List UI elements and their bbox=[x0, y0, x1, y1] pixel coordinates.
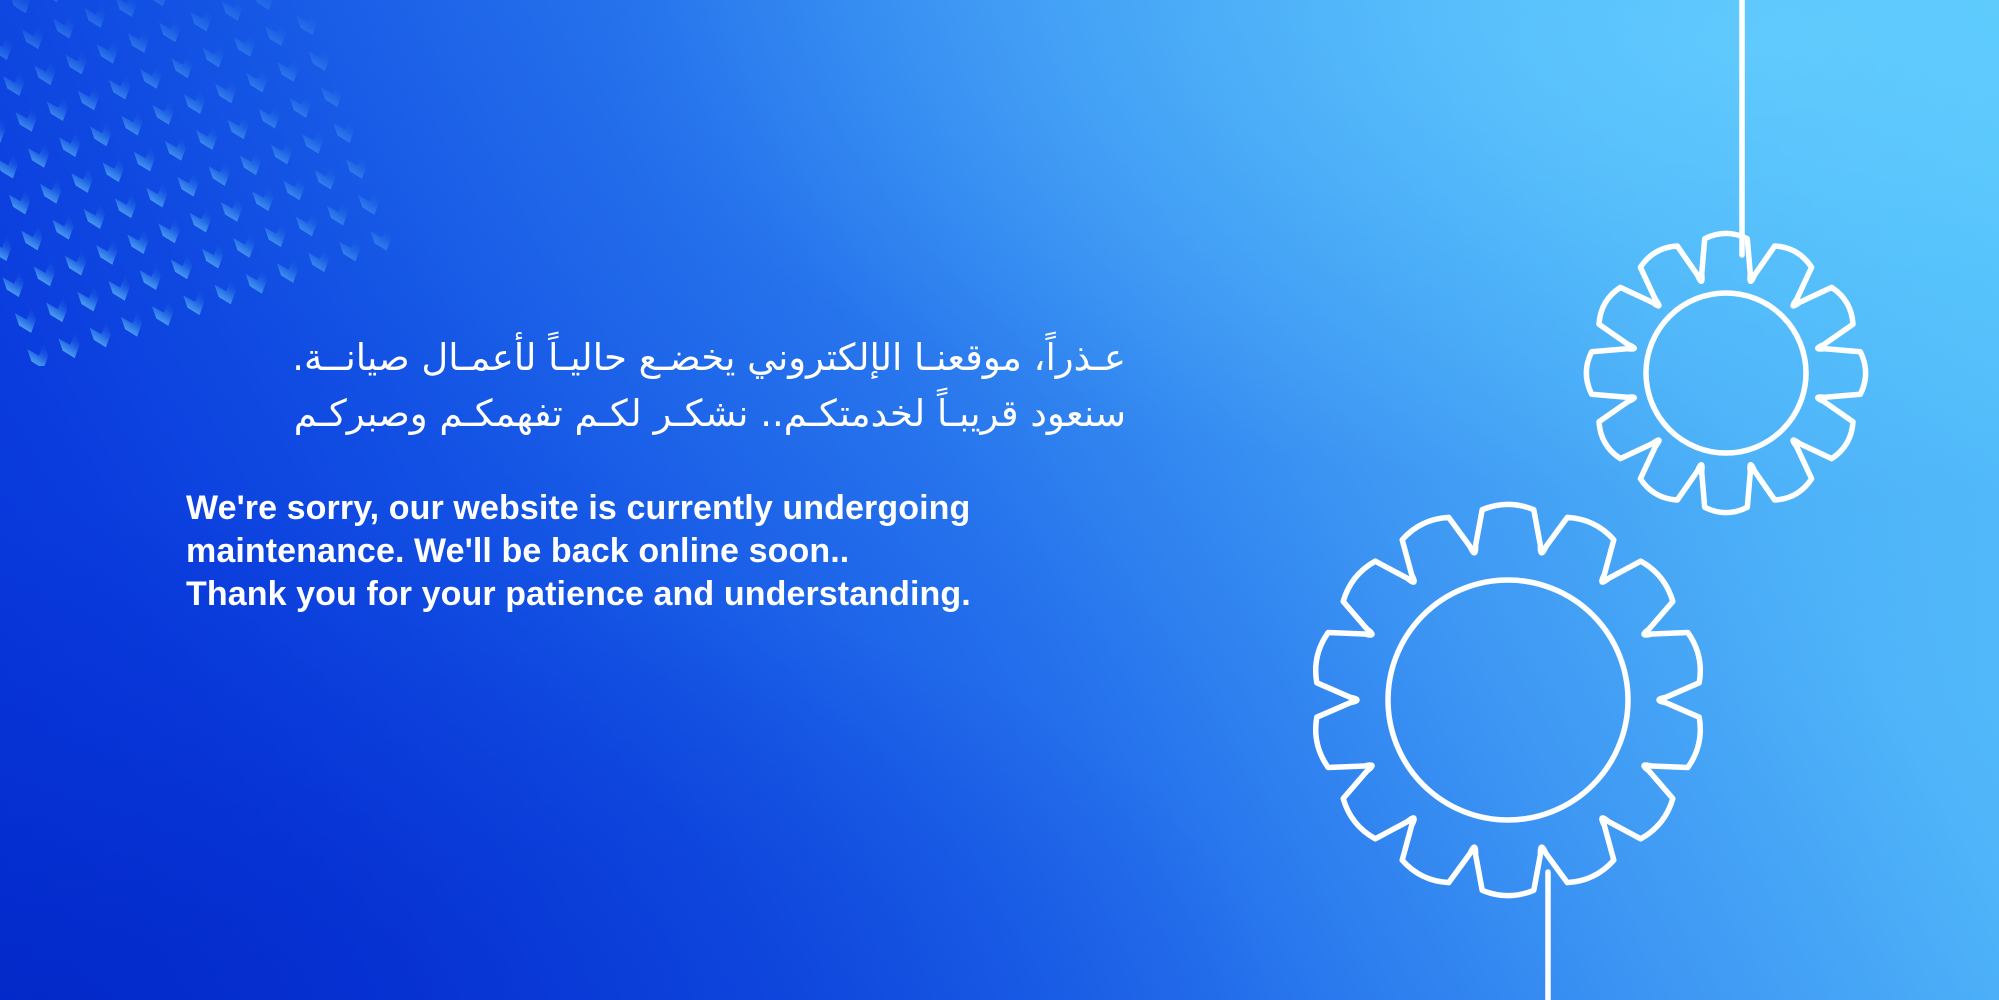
arabic-line-2: سنعود قريبـاً لخدمتكـم.. نشكـر لكـم تفهم… bbox=[186, 386, 1126, 442]
message-block: عـذراً، موقعنـا الإلكتروني يخضـع حاليـاً… bbox=[186, 330, 1186, 617]
arabic-line-1: عـذراً، موقعنـا الإلكتروني يخضـع حاليـاً… bbox=[186, 330, 1126, 386]
maintenance-page: عـذراً، موقعنـا الإلكتروني يخضـع حاليـاً… bbox=[0, 0, 1999, 1000]
english-line-3: Thank you for your patience and understa… bbox=[186, 573, 1186, 616]
english-message: We're sorry, our website is currently un… bbox=[186, 487, 1186, 617]
english-line-2: maintenance. We'll be back online soon.. bbox=[186, 530, 1186, 573]
english-line-1: We're sorry, our website is currently un… bbox=[186, 487, 1186, 530]
arabic-message: عـذراً، موقعنـا الإلكتروني يخضـع حاليـاً… bbox=[186, 330, 1126, 441]
spacer bbox=[186, 441, 1186, 487]
